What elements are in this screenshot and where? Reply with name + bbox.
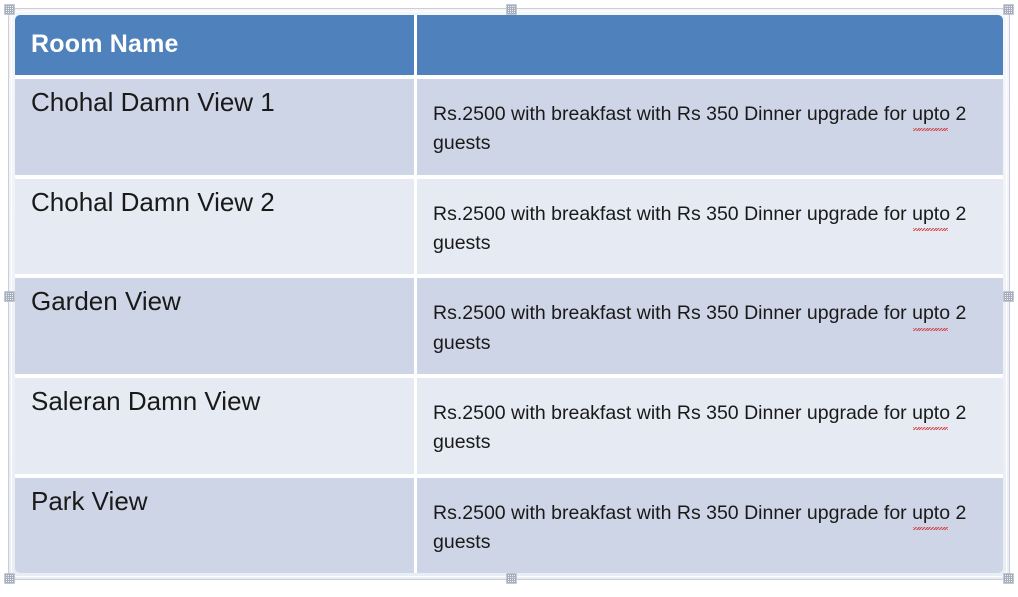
cell-price-details[interactable]: Rs.2500 with breakfast with Rs 350 Dinne… (417, 278, 1003, 378)
room-name-text: Saleran Damn View (31, 387, 400, 416)
resize-handle-top-right[interactable] (1003, 4, 1014, 15)
resize-handle-bottom-right[interactable] (1003, 573, 1014, 584)
price-details-text: Rs.2500 with breakfast with Rs 350 Dinne… (433, 287, 989, 358)
cell-room-name[interactable]: Park View (15, 478, 417, 573)
resize-handle-bottom-middle[interactable] (506, 573, 517, 584)
cell-price-details[interactable]: Rs.2500 with breakfast with Rs 350 Dinne… (417, 179, 1003, 279)
room-name-text: Park View (31, 487, 400, 516)
price-text-prefix: Rs.2500 with breakfast with Rs 350 Dinne… (433, 103, 912, 125)
table-body: Chohal Damn View 1 Rs.2500 with breakfas… (15, 79, 1003, 573)
table-header-row: Room Name (15, 15, 1003, 79)
resize-handle-bottom-left[interactable] (4, 573, 15, 584)
cell-price-details[interactable]: Rs.2500 with breakfast with Rs 350 Dinne… (417, 378, 1003, 478)
table-header: Room Name (15, 15, 1003, 79)
price-details-text: Rs.2500 with breakfast with Rs 350 Dinne… (433, 387, 989, 458)
room-rates-table: Room Name Chohal Damn View 1 Rs.2500 wit… (15, 15, 1003, 573)
price-details-text: Rs.2500 with breakfast with Rs 350 Dinne… (433, 88, 989, 159)
header-price-details[interactable] (417, 15, 1003, 79)
table-row[interactable]: Saleran Damn View Rs.2500 with breakfast… (15, 378, 1003, 478)
cell-price-details[interactable]: Rs.2500 with breakfast with Rs 350 Dinne… (417, 478, 1003, 573)
resize-handle-top-left[interactable] (4, 4, 15, 15)
misspelled-word: upto (912, 499, 950, 528)
misspelled-word: upto (912, 100, 950, 129)
table-row[interactable]: Garden View Rs.2500 with breakfast with … (15, 278, 1003, 378)
cell-room-name[interactable]: Chohal Damn View 1 (15, 79, 417, 179)
resize-handle-middle-right[interactable] (1003, 291, 1014, 302)
misspelled-word: upto (912, 200, 950, 229)
cell-room-name[interactable]: Saleran Damn View (15, 378, 417, 478)
price-text-prefix: Rs.2500 with breakfast with Rs 350 Dinne… (433, 502, 912, 524)
room-name-text: Chohal Damn View 1 (31, 88, 400, 117)
table-row[interactable]: Park View Rs.2500 with breakfast with Rs… (15, 478, 1003, 573)
price-text-prefix: Rs.2500 with breakfast with Rs 350 Dinne… (433, 402, 912, 424)
cell-room-name[interactable]: Chohal Damn View 2 (15, 179, 417, 279)
table-row[interactable]: Chohal Damn View 2 Rs.2500 with breakfas… (15, 179, 1003, 279)
resize-handle-top-middle[interactable] (506, 4, 517, 15)
price-text-prefix: Rs.2500 with breakfast with Rs 350 Dinne… (433, 203, 912, 225)
table-row[interactable]: Chohal Damn View 1 Rs.2500 with breakfas… (15, 79, 1003, 179)
resize-handle-middle-left[interactable] (4, 291, 15, 302)
misspelled-word: upto (912, 399, 950, 428)
misspelled-word: upto (912, 299, 950, 328)
room-name-text: Garden View (31, 287, 400, 316)
price-details-text: Rs.2500 with breakfast with Rs 350 Dinne… (433, 188, 989, 259)
cell-price-details[interactable]: Rs.2500 with breakfast with Rs 350 Dinne… (417, 79, 1003, 179)
room-name-text: Chohal Damn View 2 (31, 188, 400, 217)
table-selection-frame[interactable]: Room Name Chohal Damn View 1 Rs.2500 wit… (8, 8, 1010, 580)
price-details-text: Rs.2500 with breakfast with Rs 350 Dinne… (433, 487, 989, 558)
header-room-name[interactable]: Room Name (15, 15, 417, 79)
price-text-prefix: Rs.2500 with breakfast with Rs 350 Dinne… (433, 302, 912, 324)
cell-room-name[interactable]: Garden View (15, 278, 417, 378)
